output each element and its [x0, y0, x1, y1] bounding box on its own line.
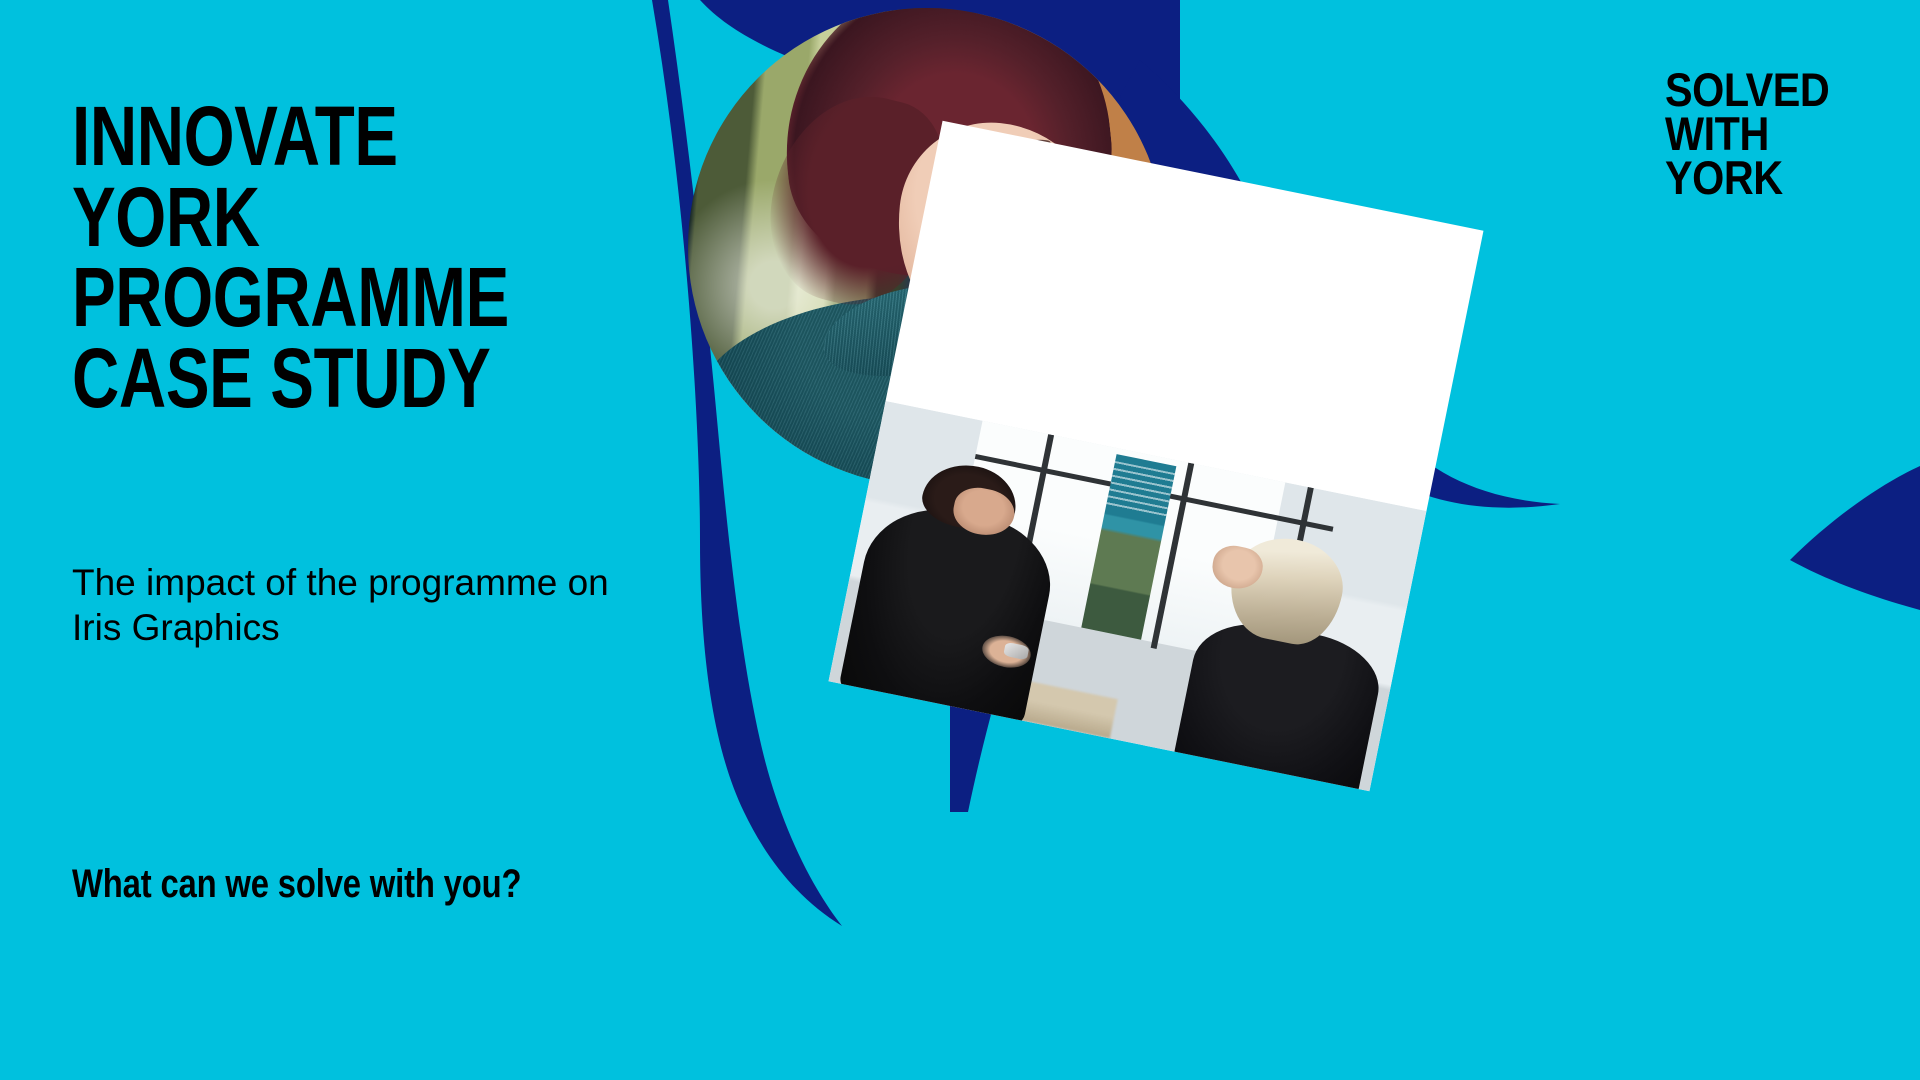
navy-crescent-right-edge	[1790, 466, 1920, 610]
banner-text-block	[1106, 461, 1175, 518]
tagline: What can we solve with you?	[72, 862, 521, 907]
page-title: Innovate York Programme Case Study	[72, 96, 571, 419]
solved-with-york-logo: Solved With York	[1665, 68, 1829, 201]
white-card	[829, 121, 1484, 792]
slide-canvas: Innovate York Programme Case Study The i…	[0, 0, 1920, 1080]
subtitle: The impact of the programme on Iris Grap…	[72, 560, 732, 650]
